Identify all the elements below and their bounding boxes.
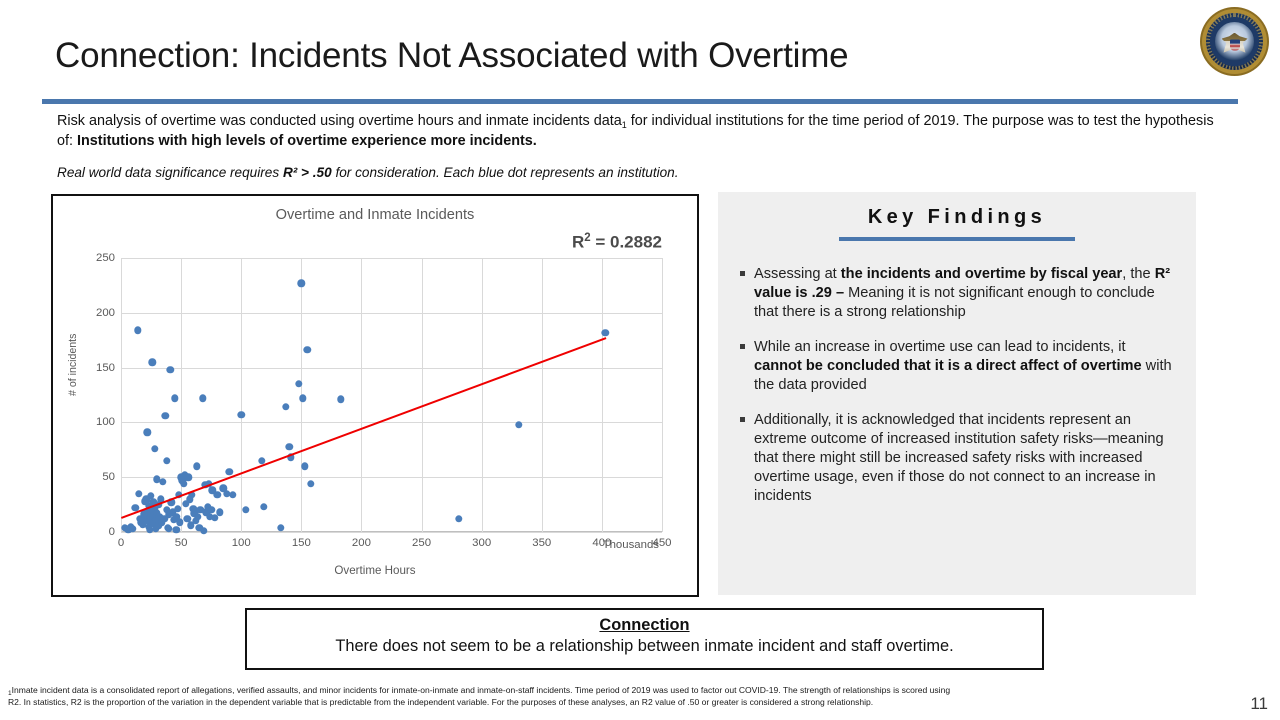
scatter-point [225, 468, 232, 475]
y-tick-label: 250 [96, 252, 115, 264]
bullet-icon [740, 271, 745, 276]
key-findings-title: Key Findings [718, 206, 1196, 229]
scatter-point [199, 395, 206, 402]
x-axis-unit-label: Thousands [603, 539, 659, 551]
x-gridline [542, 258, 543, 532]
scatter-point [286, 443, 293, 450]
bullet-icon [740, 417, 745, 422]
intro-text-a: Risk analysis of overtime was conducted … [57, 113, 622, 129]
scatter-point [134, 327, 141, 334]
significance-threshold: R² > .50 [283, 165, 332, 180]
x-gridline [241, 258, 242, 532]
intro-paragraph: Risk analysis of overtime was conducted … [57, 112, 1219, 151]
scatter-point [185, 473, 192, 480]
slide: Connection: Incidents Not Associated wit… [0, 0, 1280, 720]
x-tick-label: 150 [292, 537, 311, 549]
trendline [121, 337, 606, 519]
scatter-point [299, 395, 306, 402]
scatter-point [159, 478, 166, 485]
scatter-point [193, 463, 200, 470]
scatter-point [515, 421, 522, 428]
scatter-point [216, 509, 223, 516]
x-tick-label: 0 [118, 537, 124, 549]
scatter-point [602, 329, 609, 336]
scatter-point [238, 411, 245, 418]
footnote-text-1: Inmate incident data is a consolidated r… [12, 685, 950, 695]
list-item: While an increase in overtime use can le… [754, 338, 1174, 395]
intro-hypothesis: Institutions with high levels of overtim… [77, 133, 537, 149]
scatter-point [229, 491, 236, 498]
plot-area: 0501001502002503003504004500501001502002… [121, 258, 662, 532]
scatter-point [144, 429, 151, 436]
scatter-point [282, 403, 289, 410]
x-axis-label: Overtime Hours [53, 564, 697, 577]
scatter-point [337, 396, 344, 403]
key-findings-list: Assessing at the incidents and overtime … [718, 265, 1196, 506]
scatter-point [163, 457, 170, 464]
scatter-point [151, 445, 158, 452]
scatter-point [176, 518, 183, 525]
scatter-point [171, 395, 178, 402]
footnote-marker: 1 [8, 690, 12, 697]
scatter-point [307, 480, 314, 487]
y-gridline [121, 477, 662, 478]
x-tick-label: 50 [175, 537, 188, 549]
scatter-point [242, 506, 249, 513]
finding-1-bold-1: the incidents and overtime by fiscal yea… [841, 266, 1122, 282]
footnote: 1Inmate incident data is a consolidated … [8, 684, 1248, 708]
x-gridline [181, 258, 182, 532]
key-findings-underline [839, 237, 1075, 241]
footnote-line-2: R2. In statistics, R2 is the proportion … [8, 696, 1248, 708]
significance-text-a: Real world data significance requires [57, 165, 283, 180]
x-tick-label: 200 [352, 537, 371, 549]
scatter-point [200, 527, 207, 534]
list-item: Additionally, it is acknowledged that in… [754, 411, 1174, 506]
y-tick-label: 50 [102, 471, 115, 483]
footnote-line-1: 1Inmate incident data is a consolidated … [8, 684, 1248, 696]
seal-shield-icon [1230, 39, 1240, 50]
connection-text: There does not seem to be a relationship… [247, 637, 1042, 656]
finding-1-a: Assessing at [754, 266, 841, 282]
scatter-point [167, 366, 174, 373]
y-gridline [121, 258, 662, 259]
scatter-point [194, 513, 201, 520]
intro-footnote-marker: 1 [622, 120, 627, 130]
x-tick-label: 100 [232, 537, 251, 549]
x-gridline [602, 258, 603, 532]
connection-box: Connection There does not seem to be a r… [245, 608, 1044, 670]
x-tick-label: 250 [412, 537, 431, 549]
intro-significance-note: Real world data significance requires R²… [57, 165, 1217, 180]
y-axis-label: # of incidents [67, 334, 79, 396]
finding-3-a: Additionally, it is acknowledged that in… [754, 412, 1164, 504]
scatter-point [260, 503, 267, 510]
scatter-point [207, 506, 214, 513]
header-divider [42, 99, 1238, 104]
scatter-point [213, 491, 220, 498]
x-gridline [482, 258, 483, 532]
x-gridline [361, 258, 362, 532]
page-number: 11 [1250, 694, 1268, 714]
y-tick-label: 200 [96, 307, 115, 319]
y-tick-label: 0 [109, 526, 115, 538]
finding-2-bold: cannot be concluded that it is a direct … [754, 358, 1142, 374]
significance-text-b: for consideration. Each blue dot represe… [332, 165, 679, 180]
scatter-point [162, 412, 169, 419]
x-tick-label: 300 [472, 537, 491, 549]
scatter-chart-panel: Overtime and Inmate Incidents R2 = 0.288… [51, 194, 699, 597]
x-tick-label: 350 [532, 537, 551, 549]
scatter-point [180, 480, 187, 487]
page-title: Connection: Incidents Not Associated wit… [55, 36, 848, 76]
scatter-point [135, 490, 142, 497]
chart-r2-annotation: R2 = 0.2882 [572, 232, 662, 253]
y-gridline [121, 422, 662, 423]
x-gridline [662, 258, 663, 532]
scatter-point [298, 280, 305, 287]
x-gridline [422, 258, 423, 532]
scatter-point [301, 463, 308, 470]
doj-seal-icon [1206, 13, 1263, 70]
bullet-icon [740, 344, 745, 349]
scatter-point [149, 358, 156, 365]
finding-2-a: While an increase in overtime use can le… [754, 339, 1126, 355]
key-findings-panel: Key Findings Assessing at the incidents … [718, 192, 1196, 595]
finding-1-c: , the [1122, 266, 1154, 282]
y-gridline [121, 368, 662, 369]
scatter-point [304, 346, 311, 353]
list-item: Assessing at the incidents and overtime … [754, 265, 1174, 322]
x-gridline [121, 258, 122, 532]
y-gridline [121, 313, 662, 314]
scatter-point [174, 505, 181, 512]
y-tick-label: 100 [96, 416, 115, 428]
chart-title: Overtime and Inmate Incidents [53, 207, 697, 223]
scatter-point [455, 515, 462, 522]
connection-title: Connection [247, 616, 1042, 635]
y-tick-label: 150 [96, 362, 115, 374]
